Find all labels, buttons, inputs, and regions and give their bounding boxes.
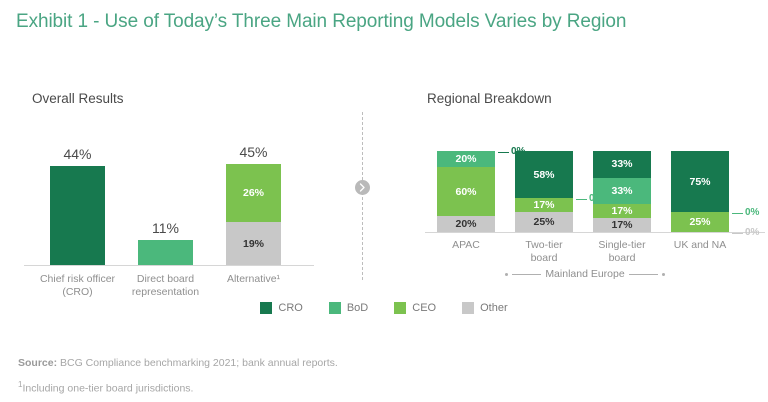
segment-uk-and-na-ceo[interactable]: 25% — [671, 212, 729, 232]
segment-single-tier-board-ceo[interactable]: 17% — [593, 204, 651, 218]
segment-apac-bod[interactable]: 20% — [437, 151, 495, 167]
legend-label: CEO — [412, 302, 436, 314]
bar-chief-risk-officer-cro[interactable] — [50, 166, 105, 265]
category-label-line: board — [579, 252, 665, 265]
legend-item-bod[interactable]: BoD — [329, 302, 368, 314]
legend-label: Other — [480, 302, 508, 314]
bracket-dot-right — [662, 273, 665, 276]
zero-callout-uk-and-na-other: 0% — [745, 227, 759, 238]
legend-label: CRO — [278, 302, 302, 314]
bar-two-tier-board[interactable]: 58%17%25% — [515, 151, 573, 232]
zero-callout-leader-line — [576, 199, 587, 200]
mainland-europe-bracket: Mainland Europe — [505, 267, 665, 281]
legend-label: BoD — [347, 302, 368, 314]
zero-callout-leader-line — [498, 152, 509, 153]
chart-legend: CROBoDCEOOther — [0, 302, 768, 314]
category-label-line: (CRO) — [36, 286, 119, 299]
segment-alternative-ceo[interactable]: 26% — [226, 164, 281, 222]
bracket-line-left — [512, 274, 541, 275]
overall-chart-axis — [24, 265, 314, 266]
segment-single-tier-board-bod[interactable]: 33% — [593, 178, 651, 205]
zero-callout-label: 0% — [745, 207, 759, 218]
zero-callout-label: 0% — [745, 227, 759, 238]
regional-breakdown-heading: Regional Breakdown — [427, 91, 552, 106]
overall-results-chart: 44%Chief risk officer(CRO)11%Direct boar… — [24, 125, 314, 295]
category-label-line: Chief risk officer — [36, 273, 119, 286]
category-label-line: Single-tier — [579, 239, 665, 252]
legend-swatch-cro — [260, 302, 272, 314]
category-label-two-tier-board: Two-tierboard — [501, 239, 587, 265]
footnote-text: Including one-tier board jurisdictions. — [22, 383, 193, 395]
category-label-direct-board-representation: Direct boardrepresentation — [124, 273, 207, 299]
zero-callout-leader-line — [732, 213, 743, 214]
page-title: Exhibit 1 - Use of Today’s Three Main Re… — [16, 9, 716, 35]
category-label-alternative: Alternative¹ — [212, 273, 295, 286]
category-label-chief-risk-officer-cro: Chief risk officer(CRO) — [36, 273, 119, 299]
segment-two-tier-board-cro[interactable]: 58% — [515, 151, 573, 198]
bar-single-tier-board[interactable]: 33%33%17%17% — [593, 151, 651, 232]
segment-apac-other[interactable]: 20% — [437, 216, 495, 232]
category-label-line: APAC — [423, 239, 509, 252]
legend-item-cro[interactable]: CRO — [260, 302, 302, 314]
bar-uk-and-na[interactable]: 75%25% — [671, 151, 729, 232]
bracket-line-right — [629, 274, 658, 275]
legend-swatch-bod — [329, 302, 341, 314]
legend-item-other[interactable]: Other — [462, 302, 508, 314]
source-line: Source: BCG Compliance benchmarking 2021… — [18, 352, 338, 374]
legend-swatch-other — [462, 302, 474, 314]
category-label-line: Alternative¹ — [212, 273, 295, 286]
category-label-line: UK and NA — [657, 239, 743, 252]
zero-callout-uk-and-na-bod: 0% — [745, 207, 759, 218]
panel-divider — [362, 112, 364, 280]
legend-item-ceo[interactable]: CEO — [394, 302, 436, 314]
bar-total-chief-risk-officer-cro: 44% — [50, 146, 105, 162]
category-label-single-tier-board: Single-tierboard — [579, 239, 665, 265]
bar-total-direct-board-representation: 11% — [138, 220, 193, 236]
bracket-dot-left — [505, 273, 508, 276]
bar-apac[interactable]: 20%60%20% — [437, 151, 495, 232]
segment-apac-ceo[interactable]: 60% — [437, 167, 495, 216]
source-text: BCG Compliance benchmarking 2021; bank a… — [57, 357, 338, 369]
overall-results-heading: Overall Results — [32, 91, 124, 106]
category-label-line: board — [501, 252, 587, 265]
segment-two-tier-board-other[interactable]: 25% — [515, 212, 573, 232]
source-label: Source: — [18, 357, 57, 369]
bar-total-alternative: 45% — [226, 144, 281, 160]
segment-alternative-other[interactable]: 19% — [226, 222, 281, 265]
footnote-line: 1Including one-tier board jurisdictions. — [18, 374, 338, 400]
bar-direct-board-representation[interactable] — [138, 240, 193, 265]
segment-uk-and-na-cro[interactable]: 75% — [671, 151, 729, 212]
category-label-uk-and-na: UK and NA — [657, 239, 743, 252]
segment-direct-board-representation-bod[interactable] — [138, 240, 193, 265]
segment-two-tier-board-ceo[interactable]: 17% — [515, 198, 573, 212]
bracket-label: Mainland Europe — [545, 268, 624, 280]
category-label-apac: APAC — [423, 239, 509, 252]
legend-swatch-ceo — [394, 302, 406, 314]
footer: Source: BCG Compliance benchmarking 2021… — [18, 352, 338, 400]
zero-callout-leader-line — [732, 233, 743, 234]
regional-chart-axis — [425, 232, 765, 233]
category-label-line: representation — [124, 286, 207, 299]
segment-chief-risk-officer-cro-cro[interactable] — [50, 166, 105, 265]
chevron-right-icon — [355, 180, 370, 195]
category-label-line: Two-tier — [501, 239, 587, 252]
category-label-line: Direct board — [124, 273, 207, 286]
segment-single-tier-board-other[interactable]: 17% — [593, 218, 651, 232]
bar-alternative[interactable]: 26%19% — [226, 164, 281, 265]
segment-single-tier-board-cro[interactable]: 33% — [593, 151, 651, 178]
